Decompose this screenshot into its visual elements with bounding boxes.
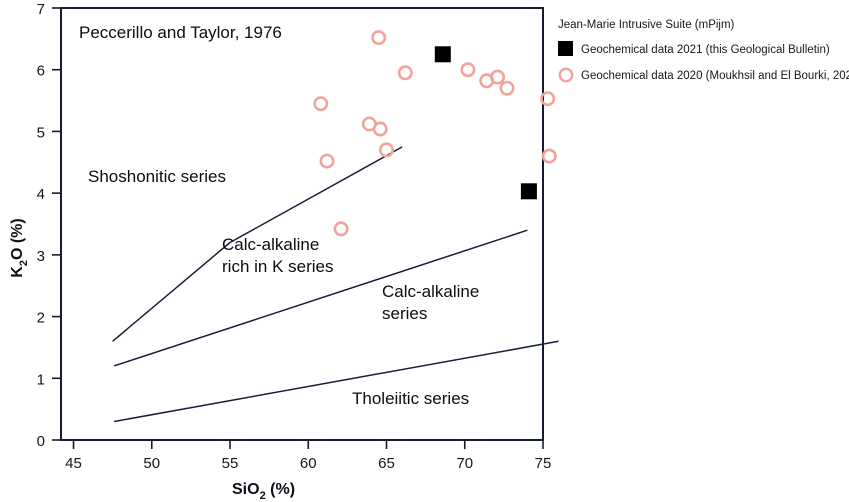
x-tick-label: 55	[222, 455, 239, 472]
series-region-label: Calc-alkaline	[222, 235, 319, 254]
data-point-circle	[462, 63, 474, 75]
data-points	[315, 31, 556, 235]
x-tick-label: 45	[65, 455, 82, 472]
legend-entries: Geochemical data 2021 (this Geological B…	[558, 41, 849, 82]
y-tick-label: 1	[37, 371, 45, 388]
y-tick-label: 5	[37, 124, 45, 141]
series-region-label: rich in K series	[222, 257, 333, 276]
svg-text:K2O (%): K2O (%)	[9, 218, 30, 277]
svg-text:SiO2 (%): SiO2 (%)	[232, 481, 295, 502]
x-axis-ticks	[74, 440, 543, 449]
series-boundary-lines	[113, 147, 559, 422]
x-tick-label: 75	[535, 455, 552, 472]
data-point-circle	[399, 67, 411, 79]
data-point-square	[521, 183, 537, 199]
data-point-circle	[321, 155, 333, 167]
data-point-circle	[501, 82, 513, 94]
data-point-square	[435, 46, 451, 62]
x-tick-label: 70	[456, 455, 473, 472]
y-axis-title-rest: O (%)	[9, 218, 26, 260]
y-tick-label: 3	[37, 248, 45, 265]
legend-title: Jean-Marie Intrusive Suite (mPijm)	[558, 19, 735, 31]
x-axis-title-main: SiO	[232, 481, 260, 498]
geochemical-classification-figure: 45505560657075 01234567 Shoshonitic seri…	[0, 0, 849, 502]
y-tick-label: 6	[37, 63, 45, 80]
legend: Jean-Marie Intrusive Suite (mPijm) Geoch…	[558, 19, 849, 82]
x-axis-title: SiO2 (%)	[232, 481, 295, 502]
data-point-circle	[374, 123, 386, 135]
x-axis-tick-labels: 45505560657075	[65, 455, 551, 472]
legend-entry-label: Geochemical data 2021 (this Geological B…	[581, 44, 830, 56]
series-region-labels: Shoshonitic seriesCalc-alkalinerich in K…	[88, 167, 479, 408]
series-region-label: Tholeiitic series	[352, 389, 469, 408]
peccerillo-taylor-scatter-plot: 45505560657075 01234567 Shoshonitic seri…	[0, 0, 849, 502]
x-tick-label: 60	[300, 455, 317, 472]
legend-marker-square	[558, 41, 573, 56]
y-axis-ticks	[52, 8, 61, 440]
y-axis-title: K2O (%)	[9, 218, 30, 277]
data-point-circle	[373, 31, 385, 43]
data-point-circle	[335, 223, 347, 235]
data-point-circle	[315, 98, 327, 110]
series-region-label: Calc-alkaline	[382, 282, 479, 301]
plot-frame	[61, 8, 543, 440]
legend-entry-label: Geochemical data 2020 (Moukhsil and El B…	[581, 70, 849, 82]
series-region-label: Shoshonitic series	[88, 167, 226, 186]
source-citation: Peccerillo and Taylor, 1976	[79, 23, 282, 42]
y-tick-label: 0	[37, 433, 45, 450]
y-tick-label: 4	[37, 186, 45, 203]
y-axis-title-main: K	[9, 266, 26, 278]
data-point-circle	[543, 150, 555, 162]
y-tick-label: 7	[37, 1, 45, 18]
x-tick-label: 50	[143, 455, 160, 472]
x-axis-title-unit: (%)	[266, 481, 295, 498]
tholeiitic-upper-boundary	[114, 341, 558, 421]
legend-marker-circle	[560, 69, 572, 81]
data-point-circle	[380, 144, 392, 156]
y-tick-label: 2	[37, 310, 45, 327]
x-tick-label: 65	[378, 455, 395, 472]
y-axis-tick-labels: 01234567	[37, 1, 45, 450]
series-region-label: series	[382, 304, 427, 323]
data-point-circle	[491, 71, 503, 83]
